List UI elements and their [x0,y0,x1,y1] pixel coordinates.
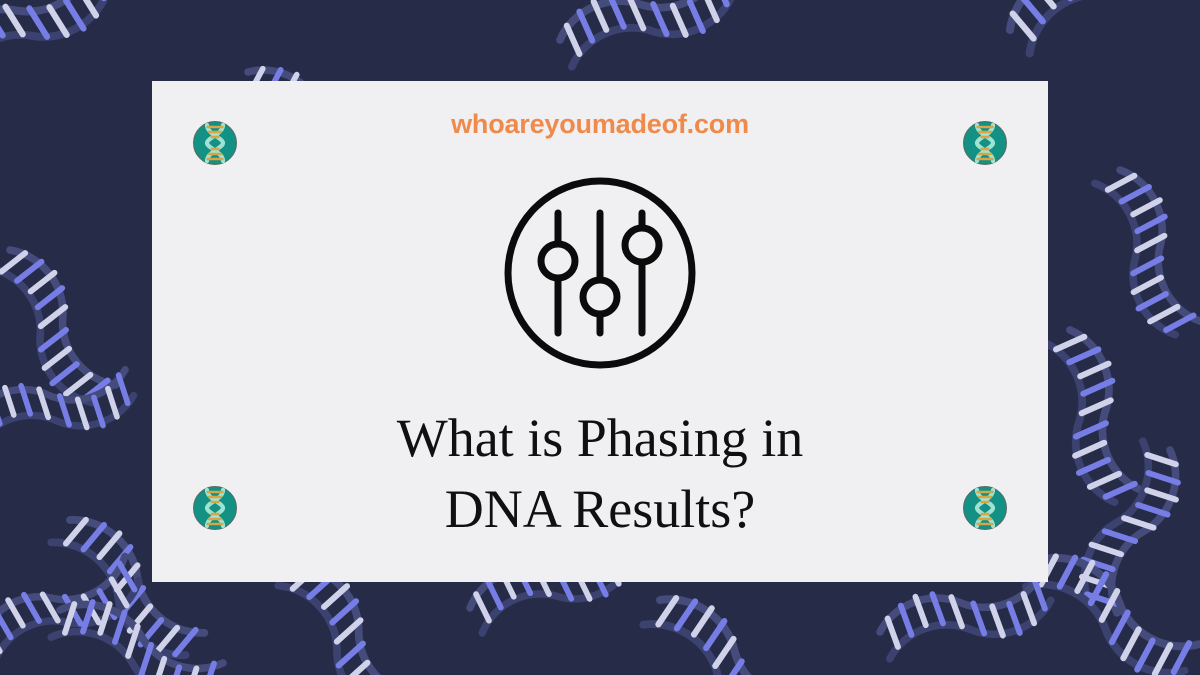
page-title: What is Phasing in DNA Results? [212,403,988,546]
content-card: whoareyoumadeof.com What is Phasing in D… [152,81,1048,582]
dna-badge-bottom-left [192,485,238,531]
site-url-text: whoareyoumadeof.com [152,109,1048,140]
dna-badge-bottom-right [962,485,1008,531]
poster-canvas: whoareyoumadeof.com What is Phasing in D… [0,0,1200,675]
page-title-line-1: What is Phasing in [212,403,988,474]
dna-badge-top-right [962,120,1008,166]
dna-badge-top-left [192,120,238,166]
sliders-settings-icon [500,173,700,373]
sliders-settings-icon-svg [500,173,700,373]
page-title-line-2: DNA Results? [212,474,988,545]
